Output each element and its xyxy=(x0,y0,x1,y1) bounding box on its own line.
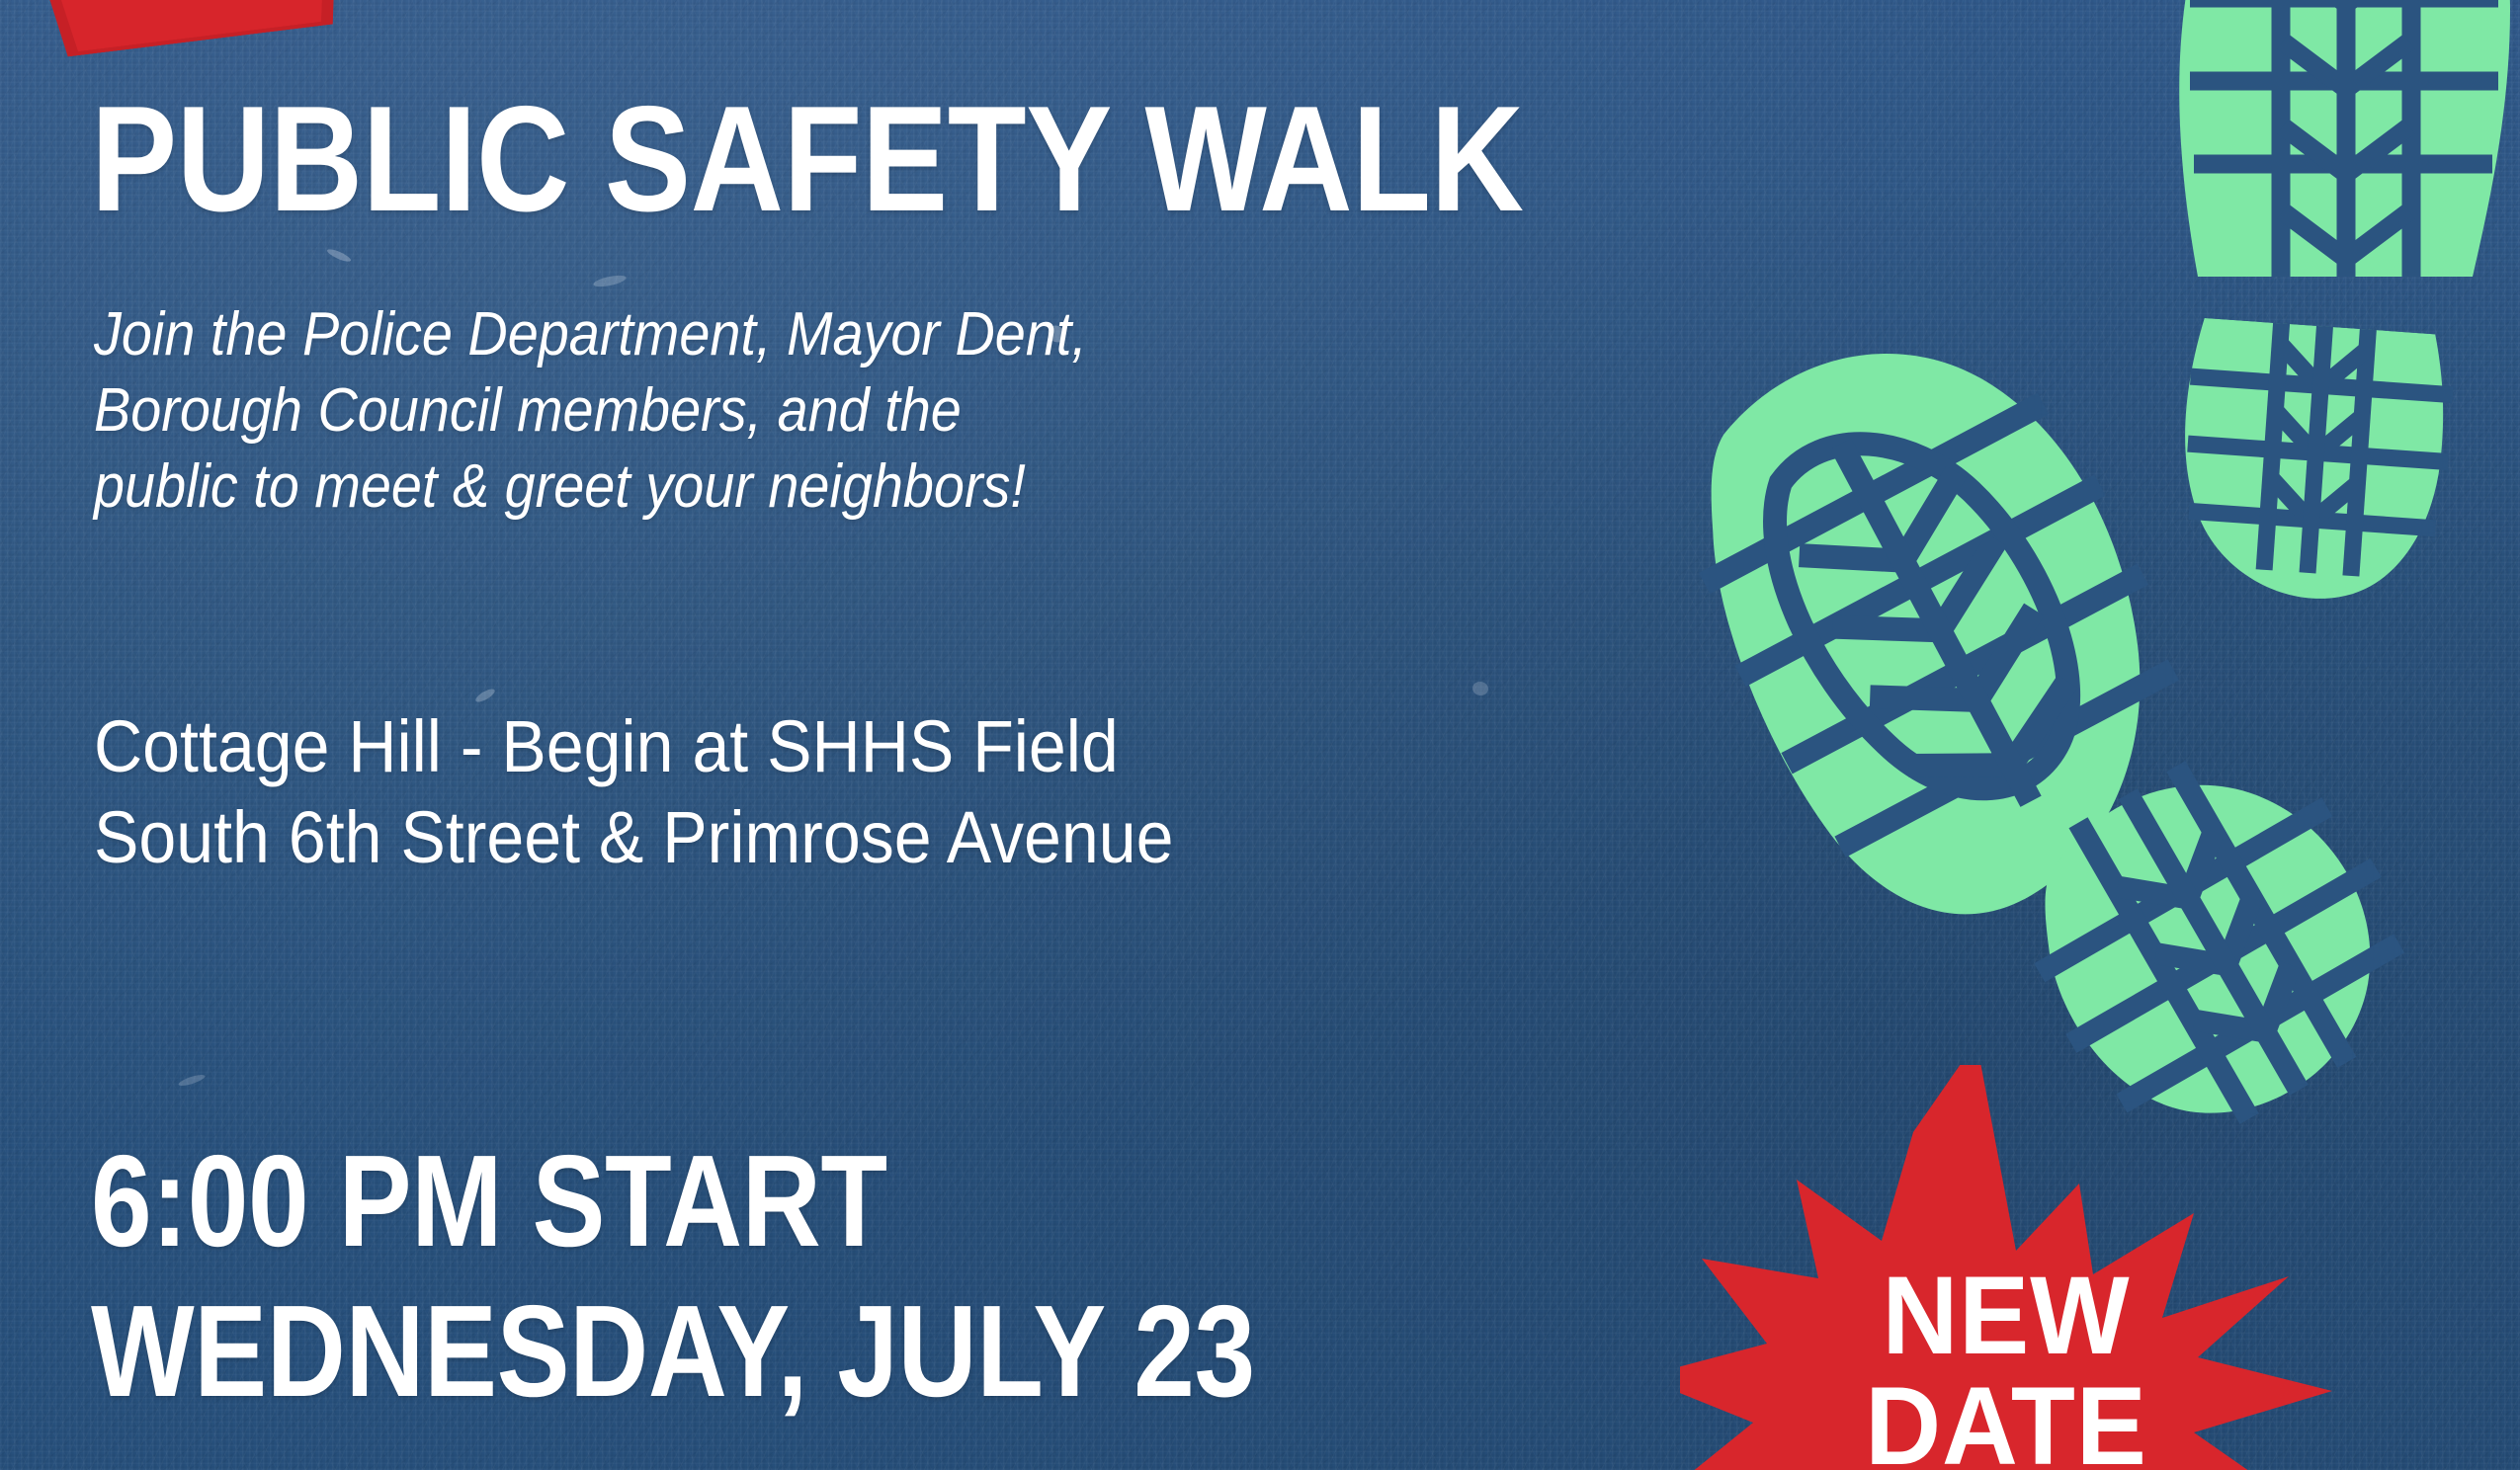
badge-line-1: NEW xyxy=(1697,1261,2316,1371)
datetime-block: 6:00 PM START WEDNESDAY, JULY 23 xyxy=(91,1126,1255,1427)
badge-line-2: DATE xyxy=(1697,1371,2316,1470)
new-date-badge-label: NEW DATE xyxy=(1697,1261,2316,1470)
new-date-badge: NEW DATE xyxy=(1680,1065,2332,1470)
venue-line-2: South 6th Street & Primrose Avenue xyxy=(94,792,1173,883)
intro-line-2: Borough Council members, and the xyxy=(94,372,1087,449)
event-date: WEDNESDAY, JULY 23 xyxy=(91,1276,1255,1427)
flyer-canvas: PUBLIC SAFETY WALK Join the Police Depar… xyxy=(0,0,2520,1470)
boot-print-top-right xyxy=(2164,0,2520,277)
page-title: PUBLIC SAFETY WALK xyxy=(91,85,1524,233)
intro-line-3: public to meet & greet your neighbors! xyxy=(94,449,1087,525)
intro-paragraph: Join the Police Department, Mayor Dent, … xyxy=(94,296,1087,525)
venue-line-1: Cottage Hill - Begin at SHHS Field xyxy=(94,701,1173,792)
start-time: 6:00 PM START xyxy=(91,1126,1255,1276)
intro-line-1: Join the Police Department, Mayor Dent, xyxy=(94,296,1087,372)
venue-block: Cottage Hill - Begin at SHHS Field South… xyxy=(94,701,1173,883)
